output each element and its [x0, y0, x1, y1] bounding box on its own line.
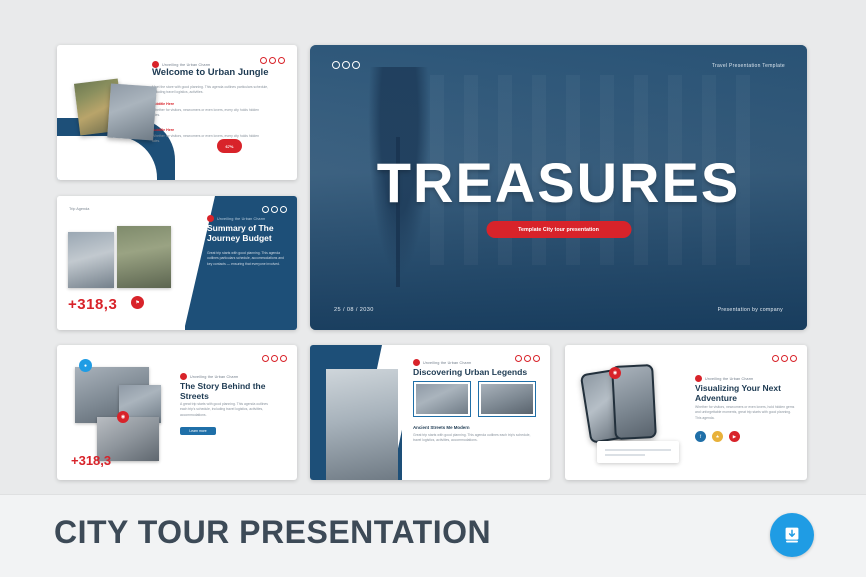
hero-date: 25 / 08 / 2030	[334, 307, 374, 313]
slide6-brand: Unveiling the Urban Charm	[695, 375, 753, 382]
slide2-description: Great trip starts with good planning. Th…	[207, 251, 289, 267]
slide5-card-1[interactable]	[413, 381, 471, 417]
slide4-brand-label: Unveiling the Urban Charm	[190, 375, 238, 379]
slide5-card-1-photo	[416, 384, 468, 414]
slide5-subheading: Ancient Streets Me Modern	[413, 425, 470, 430]
slide2-brand-label: Unveiling the Urban Charm	[217, 217, 265, 221]
hero-title: TREASURES	[310, 150, 807, 215]
slide2-photo-park	[117, 226, 171, 288]
slide-welcome-urban-jungle[interactable]: Unveiling the Urban Charm Welcome to Urb…	[57, 45, 297, 180]
slide5-brand: Unveiling the Urban Charm	[413, 359, 471, 366]
brand-dot-icon	[413, 359, 420, 366]
slide1-brand-label: Unveiling the Urban Charm	[162, 63, 210, 67]
three-circles-logo	[260, 57, 285, 64]
slide1-section-1: Subtitle Here Whether for visitors, newc…	[152, 102, 267, 119]
hero-footer-credit: Presentation by company	[718, 307, 783, 313]
slide2-amount: +318,3	[68, 296, 117, 313]
slide-discovering-urban-legends[interactable]: Unveiling the Urban Charm Discovering Ur…	[310, 345, 550, 480]
play-icon[interactable]: ▶	[729, 431, 740, 442]
slide5-photo-traveler	[326, 369, 398, 480]
slide4-amount: +318,3	[71, 453, 111, 468]
camera-icon: ◉	[117, 411, 129, 423]
slide6-card-line-1	[605, 449, 671, 451]
brand-dot-icon	[207, 215, 214, 222]
bottom-banner: CITY TOUR PRESENTATION	[0, 494, 866, 577]
brand-dot-icon	[695, 375, 702, 382]
slide6-title: Visualizing Your Next Adventure	[695, 383, 795, 403]
download-template-icon[interactable]	[770, 513, 814, 557]
star-icon[interactable]: ★	[712, 431, 723, 442]
slide6-description: Whether for visitors, newcomers or even …	[695, 405, 795, 421]
slide6-icon-row: f ★ ▶	[695, 431, 740, 442]
slide2-brand: Unveiling the Urban Charm	[207, 215, 265, 222]
facebook-icon[interactable]: f	[695, 431, 706, 442]
slide6-info-card	[597, 441, 679, 463]
slide5-brand-label: Unveiling the Urban Charm	[423, 361, 471, 365]
pin-icon: ●	[79, 359, 92, 372]
three-circles-logo	[262, 355, 287, 362]
slide2-title: Summary of The Journey Budget	[207, 223, 295, 243]
slide5-card-2[interactable]	[478, 381, 536, 417]
slide-journey-budget[interactable]: Trip Agenda +318,3 ⚑ Unveiling the Urban…	[57, 196, 297, 330]
slide5-title: Discovering Urban Legends	[413, 367, 541, 377]
slide2-photo-arch	[68, 232, 114, 288]
brand-dot-icon	[180, 373, 187, 380]
slide5-description: Great trip starts with good planning. Th…	[413, 433, 538, 444]
slide5-card-2-photo	[481, 384, 533, 414]
slide4-description: A great trip starts with good planning. …	[180, 402, 275, 418]
slide6-brand-label: Unveiling the Urban Charm	[705, 377, 753, 381]
slide1-section-2-heading: Subtitle Here	[152, 128, 267, 132]
slide1-section-1-heading: Subtitle Here	[152, 102, 267, 106]
three-circles-logo-white	[332, 61, 360, 69]
slide-story-behind-streets[interactable]: ● ◉ +318,3 Unveiling the Urban Charm The…	[57, 345, 297, 480]
slide4-brand: Unveiling the Urban Charm	[180, 373, 238, 380]
slide6-card-line-2	[605, 454, 645, 456]
photo-badge: ◉	[609, 367, 621, 379]
slide-hero-treasures[interactable]: Travel Presentation Template TREASURES T…	[310, 45, 807, 330]
hero-cta-button[interactable]: Template City tour presentation	[486, 221, 631, 238]
slide1-section-2-text: Whether for visitors, newcomers or even …	[152, 134, 267, 145]
slide-visualizing-next-adventure[interactable]: ◉ Unveiling the Urban Charm Visualizing …	[565, 345, 807, 480]
slide1-title: Welcome to Urban Jungle	[152, 68, 292, 79]
slide1-section-1-text: Whether for visitors, newcomers or even …	[152, 108, 267, 119]
bookmark-icon: ⚑	[131, 296, 144, 309]
slide1-section-2: Subtitle Here Whether for visitors, newc…	[152, 128, 267, 145]
slide4-title: The Story Behind the Streets	[180, 381, 280, 401]
slide2-tag: Trip Agenda	[69, 207, 89, 211]
preview-canvas: Unveiling the Urban Charm Welcome to Urb…	[0, 0, 866, 577]
slide1-badge: 67%	[217, 139, 242, 153]
hero-template-label: Travel Presentation Template	[712, 63, 785, 69]
page-title: CITY TOUR PRESENTATION	[54, 514, 491, 551]
slide4-learn-more-button[interactable]: Learn more	[180, 427, 216, 435]
slide1-description: Meet the store with good planning. This …	[152, 85, 272, 96]
three-circles-logo	[515, 355, 540, 362]
slide1-photo-right	[107, 83, 157, 140]
three-circles-logo	[262, 206, 287, 213]
three-circles-logo	[772, 355, 797, 362]
